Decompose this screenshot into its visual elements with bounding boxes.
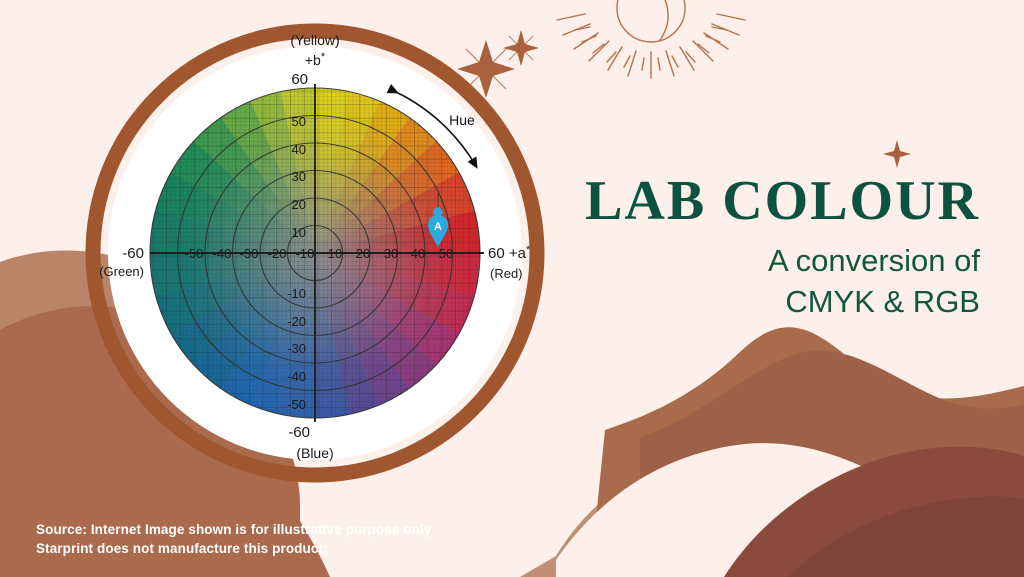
x-tick: -30: [240, 246, 259, 261]
x-tick: -10: [296, 246, 315, 261]
axis-label-blue: (Blue): [296, 445, 333, 461]
y-tick: -50: [287, 397, 306, 412]
x-tick: 10: [328, 246, 342, 261]
subtitle-line-2: CMYK & RGB: [540, 282, 980, 322]
sun-burst-ornament: [557, 0, 745, 78]
footer-line-2: Starprint does not manufacture this prod…: [36, 539, 431, 559]
footer-line-1: Source: Internet Image shown is for illu…: [36, 520, 431, 540]
y-tick: -10: [287, 286, 306, 301]
x-tick: 40: [411, 246, 425, 261]
x-tick: -20: [268, 246, 287, 261]
x-tick: 20: [356, 246, 370, 261]
axis-value-bottom: -60: [288, 424, 310, 441]
page-title: LAB COLOUR: [540, 172, 980, 231]
hue-label: Hue: [449, 112, 475, 128]
y-tick: 40: [292, 142, 306, 157]
axis-value-top: 60: [291, 71, 308, 88]
subtitle-line-1: A conversion of: [768, 243, 980, 278]
heading-block: LAB COLOUR A conversion of CMYK & RGB: [540, 172, 980, 322]
y-tick: 10: [292, 225, 306, 240]
axis-label-yellow: (Yellow): [290, 32, 339, 48]
y-tick: -30: [287, 341, 306, 356]
axis-value-right: 60 +a*: [488, 244, 531, 262]
x-tick: -40: [213, 246, 232, 261]
axis-value-left: -60: [122, 245, 144, 262]
sparkle-star-tiny: [883, 140, 911, 168]
y-tick: -40: [287, 369, 306, 384]
footer-disclaimer: Source: Internet Image shown is for illu…: [36, 520, 431, 559]
lab-colour-wheel[interactable]: -50 -40 -30 -20 -10 10 20 30 40 50 50 40…: [84, 22, 546, 484]
y-tick: -20: [287, 314, 306, 329]
x-tick: -50: [185, 246, 204, 261]
lab-wheel-svg[interactable]: -50 -40 -30 -20 -10 10 20 30 40 50 50 40…: [84, 22, 546, 484]
x-tick: 30: [384, 246, 398, 261]
y-tick: 30: [292, 169, 306, 184]
y-tick: 50: [292, 114, 306, 129]
axis-label-red: (Red): [490, 266, 523, 281]
poster-canvas: -50 -40 -30 -20 -10 10 20 30 40 50 50 40…: [0, 0, 1024, 577]
sun-circle-outer: [617, 0, 685, 42]
sun-crescent: [640, 0, 668, 40]
page-subtitle: A conversion of CMYK & RGB: [540, 241, 980, 322]
axis-label-green: (Green): [99, 264, 144, 279]
sample-point-label: A: [434, 221, 442, 233]
x-tick: 50: [439, 246, 453, 261]
sun-rays: [557, 14, 745, 78]
y-tick: 20: [292, 197, 306, 212]
